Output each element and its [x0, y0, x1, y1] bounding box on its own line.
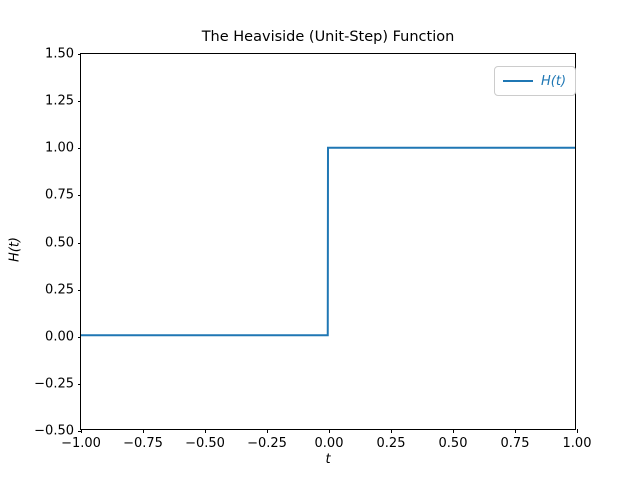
- x-tick-mark: [329, 429, 330, 433]
- y-tick-mark: [78, 337, 82, 338]
- y-tick-label: −0.50: [34, 424, 74, 439]
- heaviside-step-line: [81, 54, 575, 429]
- x-tick-label: 0.50: [439, 436, 468, 451]
- x-tick-mark: [577, 429, 578, 433]
- y-tick-mark: [78, 431, 82, 432]
- matplotlib-figure: The Heaviside (Unit-Step) Function −1.00…: [0, 0, 640, 480]
- y-tick-mark: [78, 290, 82, 291]
- x-tick-label: −0.25: [247, 436, 287, 451]
- x-tick-label: −0.75: [123, 436, 163, 451]
- x-tick-mark: [391, 429, 392, 433]
- x-tick-mark: [143, 429, 144, 433]
- y-tick-label: −0.25: [34, 376, 74, 391]
- y-tick-label: 0.50: [45, 235, 74, 250]
- y-tick-label: 1.50: [45, 47, 74, 62]
- x-tick-mark: [267, 429, 268, 433]
- y-tick-mark: [78, 148, 82, 149]
- y-tick-mark: [78, 54, 82, 55]
- y-tick-label: 1.25: [45, 94, 74, 109]
- x-axis-label: t: [80, 452, 576, 467]
- legend-line-swatch-icon: [503, 80, 533, 82]
- legend-label: H(t): [541, 75, 566, 88]
- x-tick-mark: [81, 429, 82, 433]
- y-axis-label: H(t): [8, 234, 23, 264]
- x-tick-label: 0.75: [501, 436, 530, 451]
- y-tick-label: 1.00: [45, 141, 74, 156]
- y-tick-label: 0.00: [45, 329, 74, 344]
- y-tick-label: 0.75: [45, 188, 74, 203]
- legend: H(t): [494, 66, 576, 96]
- x-tick-mark: [453, 429, 454, 433]
- plot-area: −1.00 −0.75 −0.50 −0.25 0.00 0.25 0.50 0…: [80, 53, 576, 430]
- series-polyline-H-of-t: [81, 148, 575, 336]
- chart-title: The Heaviside (Unit-Step) Function: [80, 28, 576, 46]
- y-tick-mark: [78, 195, 82, 196]
- y-tick-label: 0.25: [45, 282, 74, 297]
- x-tick-label: 0.00: [315, 436, 344, 451]
- y-tick-mark: [78, 384, 82, 385]
- x-tick-label: −0.50: [185, 436, 225, 451]
- x-tick-label: 1.00: [563, 436, 592, 451]
- y-tick-mark: [78, 243, 82, 244]
- x-tick-mark: [205, 429, 206, 433]
- y-tick-mark: [78, 101, 82, 102]
- x-tick-label: 0.25: [377, 436, 406, 451]
- x-tick-mark: [515, 429, 516, 433]
